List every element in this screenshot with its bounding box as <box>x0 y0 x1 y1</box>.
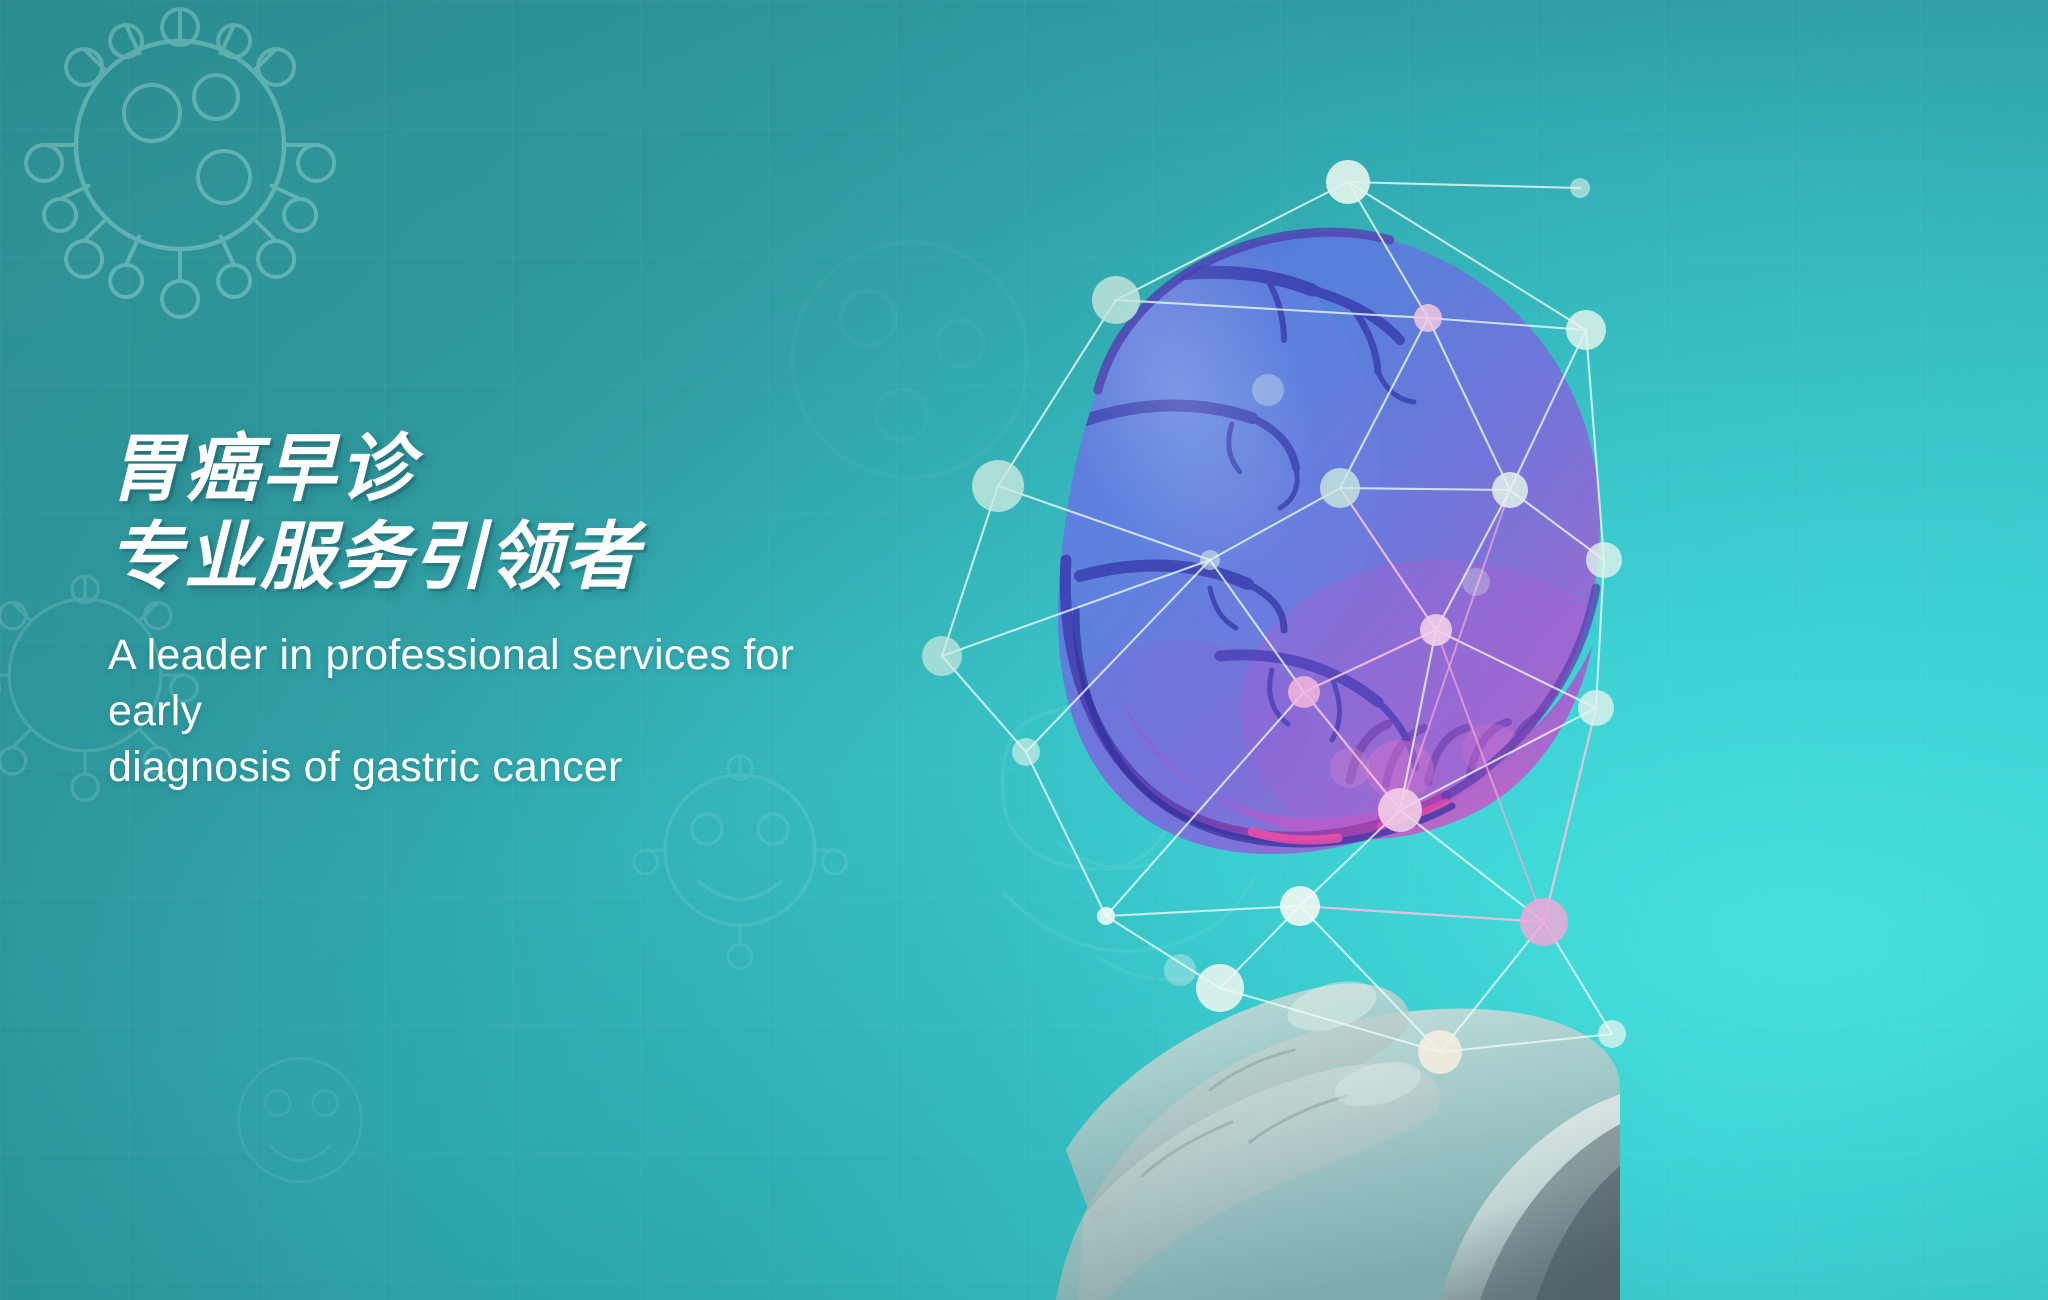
headline-line-1: 胃癌早诊 <box>108 425 1108 513</box>
headline-block: 胃癌早诊 专业服务引领者 A leader in professional se… <box>108 425 1108 795</box>
subheadline-line-2: diagnosis of gastric cancer <box>108 739 898 795</box>
subheadline-block: A leader in professional services for ea… <box>108 627 898 795</box>
subheadline-line-1: A leader in professional services for ea… <box>108 627 898 739</box>
promo-banner: 胃癌早诊 专业服务引领者 A leader in professional se… <box>0 0 2048 1300</box>
headline-line-2: 专业服务引领者 <box>108 513 1108 601</box>
